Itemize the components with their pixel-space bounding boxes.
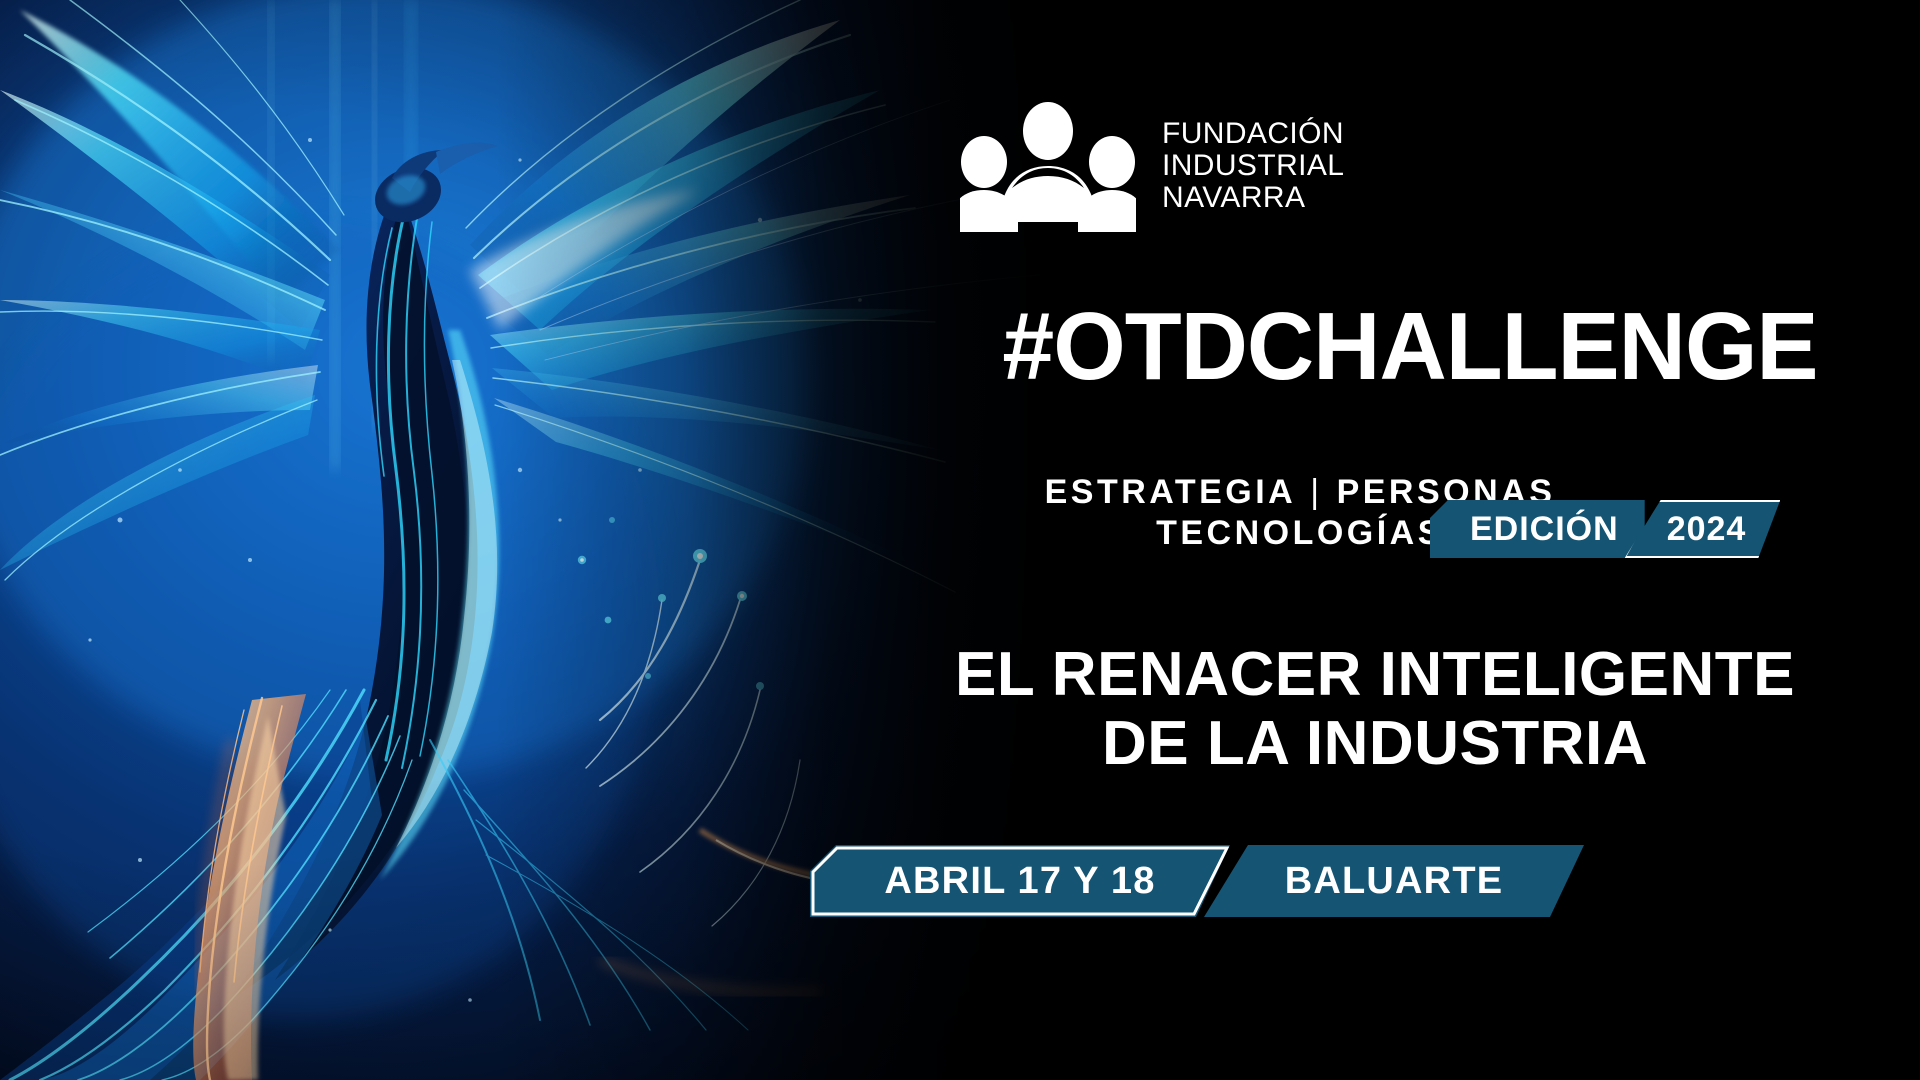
event-banner: FUNDACIÓN INDUSTRIAL NAVARRA #OTDCHALLEN… bbox=[0, 0, 1920, 1080]
edition-year: 2024 bbox=[1625, 500, 1781, 558]
headline-line-2: DE LA INDUSTRIA bbox=[900, 709, 1850, 778]
event-details-strip: ABRIL 17 Y 18 BALUARTE bbox=[810, 845, 1584, 917]
three-people-icon bbox=[960, 100, 1136, 232]
pillar-estrategia: ESTRATEGIA bbox=[1045, 473, 1297, 511]
event-date-badge: ABRIL 17 Y 18 bbox=[810, 845, 1230, 917]
logo-wordmark: FUNDACIÓN INDUSTRIAL NAVARRA bbox=[1162, 118, 1344, 213]
headline-line-1: EL RENACER INTELIGENTE bbox=[900, 640, 1850, 709]
pillar-separator: | bbox=[1296, 472, 1336, 513]
event-hashtag-title: #OTDCHALLENGE bbox=[915, 292, 1904, 402]
event-venue-label: BALUARTE bbox=[1285, 860, 1504, 903]
edition-badge: EDICIÓN 2024 bbox=[1430, 500, 1780, 558]
event-headline: EL RENACER INTELIGENTE DE LA INDUSTRIA bbox=[900, 640, 1850, 779]
logo-line-1: FUNDACIÓN bbox=[1162, 118, 1344, 150]
edition-divider-icon bbox=[1625, 502, 1781, 556]
logo-line-2: INDUSTRIAL bbox=[1162, 150, 1344, 182]
date-badge-outline-icon bbox=[810, 845, 1230, 917]
logo-line-3: NAVARRA bbox=[1162, 182, 1344, 214]
organization-logo: FUNDACIÓN INDUSTRIAL NAVARRA bbox=[960, 100, 1344, 232]
content-column: FUNDACIÓN INDUSTRIAL NAVARRA #OTDCHALLEN… bbox=[900, 0, 1920, 1080]
edition-label: EDICIÓN bbox=[1430, 500, 1645, 558]
pillar-tecnologias: TECNOLOGÍAS bbox=[1156, 514, 1444, 552]
event-venue-badge: BALUARTE bbox=[1204, 845, 1584, 917]
